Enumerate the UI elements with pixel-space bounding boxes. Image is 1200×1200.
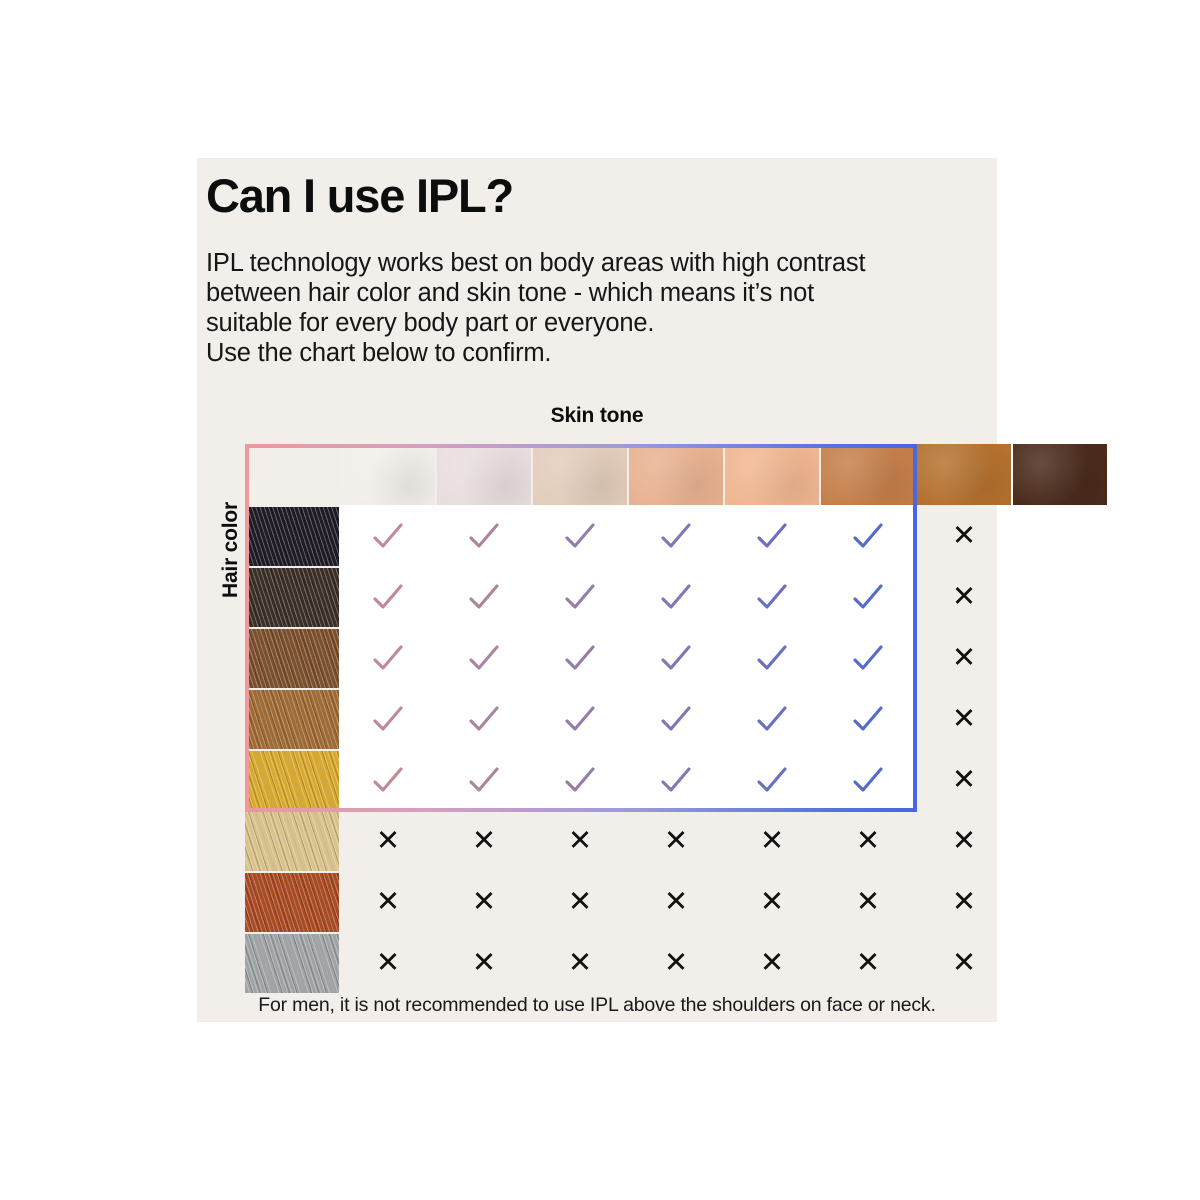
cell-check-icon (821, 507, 915, 566)
intro-line-4: Use the chart below to confirm. (206, 338, 988, 368)
cell-cross-icon: ✕ (725, 873, 819, 932)
hair-color-swatch (245, 873, 339, 932)
cell-cross-icon: ✕ (917, 629, 1011, 688)
matrix-corner-cell (245, 444, 339, 505)
skin-texture (437, 444, 531, 505)
cell-cross-icon: ✕ (341, 873, 435, 932)
cross-glyph: ✕ (664, 888, 688, 917)
cell-cross-icon: ✕ (629, 934, 723, 993)
cell-check-icon (725, 568, 819, 627)
cell-check-icon (533, 568, 627, 627)
intro-line-2: between hair color and skin tone - which… (206, 278, 988, 308)
hair-color-swatch (245, 629, 339, 688)
cell-cross-icon: ✕ (437, 873, 531, 932)
cross-glyph: ✕ (760, 888, 784, 917)
skin-tone-swatch (533, 444, 627, 505)
cell-check-icon (821, 751, 915, 810)
cell-check-icon (533, 629, 627, 688)
cell-check-icon (821, 629, 915, 688)
cell-check-icon (821, 690, 915, 749)
skin-tone-swatch (629, 444, 723, 505)
cell-check-icon (437, 568, 531, 627)
cell-cross-icon: ✕ (917, 751, 1011, 810)
cross-glyph: ✕ (952, 949, 976, 978)
cell-check-icon (341, 568, 435, 627)
cell-check-icon (437, 690, 531, 749)
cell-cross-icon: ✕ (917, 507, 1011, 566)
cell-cross-icon: ✕ (725, 812, 819, 871)
box-top-border (245, 444, 917, 448)
cell-check-icon (533, 507, 627, 566)
cell-check-icon (437, 751, 531, 810)
cross-glyph: ✕ (568, 888, 592, 917)
cell-check-icon (629, 690, 723, 749)
cross-glyph: ✕ (664, 827, 688, 856)
cell-check-icon (341, 507, 435, 566)
cell-cross-icon: ✕ (533, 934, 627, 993)
cell-check-icon (725, 751, 819, 810)
skin-texture (821, 444, 915, 505)
skin-tone-axis-label: Skin tone (197, 404, 997, 428)
suitability-matrix: ✕✕✕✕✕✕✕✕✕✕✕✕✕✕✕✕✕✕✕✕✕✕✕✕✕✕ (245, 444, 997, 936)
screenshot-root: Can I use IPL? IPL technology works best… (0, 0, 1200, 1200)
intro-line-3: suitable for every body part or everyone… (206, 308, 988, 338)
box-bottom-border (245, 808, 917, 812)
cell-check-icon (725, 690, 819, 749)
cell-check-icon (437, 629, 531, 688)
cross-glyph: ✕ (664, 949, 688, 978)
skin-texture (533, 444, 627, 505)
hair-texture (245, 873, 339, 932)
cell-cross-icon: ✕ (917, 568, 1011, 627)
cross-glyph: ✕ (376, 949, 400, 978)
cross-glyph: ✕ (952, 766, 976, 795)
cell-cross-icon: ✕ (341, 934, 435, 993)
cell-check-icon (725, 507, 819, 566)
cross-glyph: ✕ (568, 949, 592, 978)
skin-tone-swatch (437, 444, 531, 505)
cell-cross-icon: ✕ (533, 873, 627, 932)
skin-texture (1013, 444, 1107, 505)
skin-texture (917, 444, 1011, 505)
skin-tone-swatch (821, 444, 915, 505)
cell-cross-icon: ✕ (437, 934, 531, 993)
cross-glyph: ✕ (568, 827, 592, 856)
cell-check-icon (629, 507, 723, 566)
cross-glyph: ✕ (472, 888, 496, 917)
cell-check-icon (341, 629, 435, 688)
hair-color-swatch (245, 568, 339, 627)
hair-texture (245, 812, 339, 871)
cell-cross-icon: ✕ (629, 812, 723, 871)
hair-color-axis-label: Hair color (219, 460, 243, 640)
cross-glyph: ✕ (856, 827, 880, 856)
cell-cross-icon: ✕ (533, 812, 627, 871)
cell-check-icon (341, 751, 435, 810)
box-left-border (245, 444, 249, 812)
cell-cross-icon: ✕ (725, 934, 819, 993)
cell-check-icon (533, 751, 627, 810)
cross-glyph: ✕ (376, 827, 400, 856)
cell-check-icon (437, 507, 531, 566)
hair-color-swatch (245, 751, 339, 810)
hair-color-swatch (245, 934, 339, 993)
cell-check-icon (341, 690, 435, 749)
cell-cross-icon: ✕ (821, 934, 915, 993)
cross-glyph: ✕ (760, 827, 784, 856)
cell-cross-icon: ✕ (917, 934, 1011, 993)
skin-tone-swatch (725, 444, 819, 505)
cross-glyph: ✕ (376, 888, 400, 917)
hair-texture (245, 507, 339, 566)
cross-glyph: ✕ (952, 583, 976, 612)
skin-tone-swatch (917, 444, 1011, 505)
cross-glyph: ✕ (952, 644, 976, 673)
cell-cross-icon: ✕ (821, 873, 915, 932)
skin-texture (725, 444, 819, 505)
intro-paragraph: IPL technology works best on body areas … (206, 248, 988, 368)
intro-line-1: IPL technology works best on body areas … (206, 248, 988, 278)
page-title: Can I use IPL? (206, 172, 986, 219)
hair-texture (245, 629, 339, 688)
hair-texture (245, 690, 339, 749)
footnote: For men, it is not recommended to use IP… (197, 994, 997, 1017)
cell-cross-icon: ✕ (629, 873, 723, 932)
cross-glyph: ✕ (952, 888, 976, 917)
cell-check-icon (725, 629, 819, 688)
cross-glyph: ✕ (952, 705, 976, 734)
skin-tone-swatch (341, 444, 435, 505)
cross-glyph: ✕ (472, 949, 496, 978)
cross-glyph: ✕ (760, 949, 784, 978)
cell-check-icon (533, 690, 627, 749)
cross-glyph: ✕ (856, 888, 880, 917)
cell-cross-icon: ✕ (437, 812, 531, 871)
cell-cross-icon: ✕ (917, 812, 1011, 871)
box-right-border (913, 444, 917, 812)
cross-glyph: ✕ (952, 827, 976, 856)
cross-glyph: ✕ (856, 949, 880, 978)
ipl-suitability-card: Can I use IPL? IPL technology works best… (197, 158, 997, 1022)
skin-texture (629, 444, 723, 505)
cell-cross-icon: ✕ (341, 812, 435, 871)
cell-check-icon (821, 568, 915, 627)
cell-cross-icon: ✕ (917, 873, 1011, 932)
cell-check-icon (629, 568, 723, 627)
cell-check-icon (629, 629, 723, 688)
hair-texture (245, 568, 339, 627)
skin-tone-swatch (1013, 444, 1107, 505)
skin-texture (341, 444, 435, 505)
cross-glyph: ✕ (952, 522, 976, 551)
hair-texture (245, 751, 339, 810)
hair-color-swatch (245, 812, 339, 871)
hair-color-swatch (245, 507, 339, 566)
cell-cross-icon: ✕ (821, 812, 915, 871)
cell-cross-icon: ✕ (917, 690, 1011, 749)
cell-check-icon (629, 751, 723, 810)
hair-color-swatch (245, 690, 339, 749)
cross-glyph: ✕ (472, 827, 496, 856)
hair-texture (245, 934, 339, 993)
